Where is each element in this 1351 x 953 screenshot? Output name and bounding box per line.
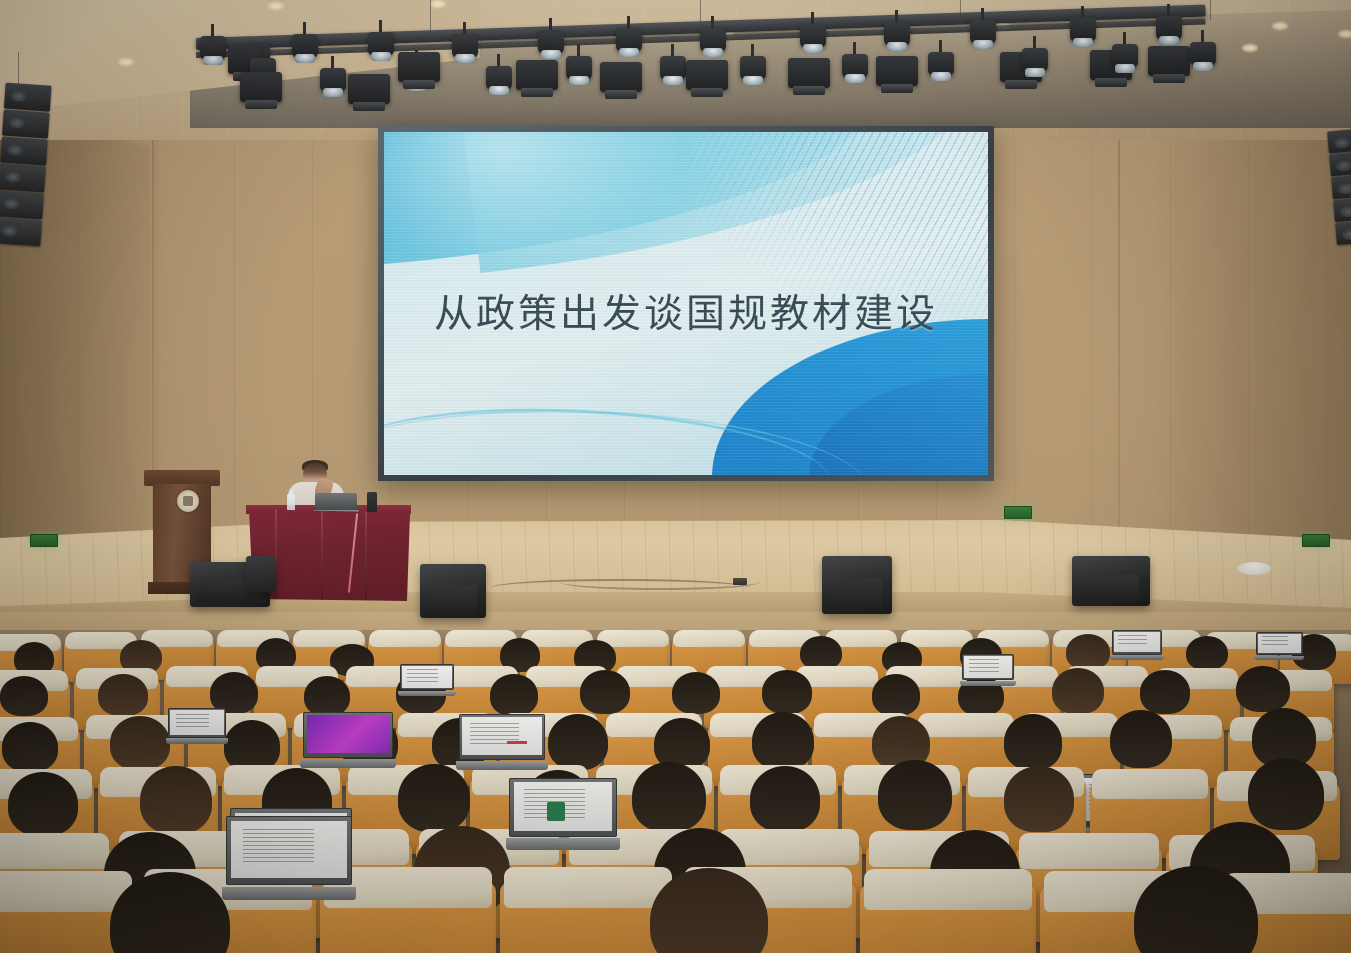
audience-laptop[interactable] <box>1254 632 1304 660</box>
stage-spotlight <box>452 34 478 68</box>
audience-member <box>98 674 148 716</box>
audience-member <box>1110 710 1172 768</box>
rig-wire <box>960 0 961 24</box>
stage-spotlight <box>1070 18 1096 52</box>
audience-member <box>398 764 470 832</box>
audience-member <box>548 714 608 770</box>
stage-spotlight <box>660 56 686 90</box>
audience-seat[interactable] <box>860 884 1036 953</box>
stage-spotlight <box>842 54 868 88</box>
stage-fresnel-light <box>876 56 918 86</box>
audience-member <box>672 672 720 714</box>
audience-member <box>762 670 812 714</box>
stage-monitor-speaker <box>420 564 486 618</box>
stage-spotlight <box>486 66 512 100</box>
audience-member <box>2 722 58 772</box>
projection-screen[interactable]: 从政策出发谈国规教材建设 <box>384 132 988 475</box>
audience-laptop[interactable] <box>456 714 548 770</box>
floor-cable-secondary <box>560 574 760 590</box>
projection-screen-frame: 从政策出发谈国规教材建设 <box>378 126 994 481</box>
stage-spotlight <box>320 68 346 102</box>
audience-laptop[interactable] <box>1110 630 1164 660</box>
audience-member <box>304 676 350 716</box>
stage-spotlight <box>800 24 826 58</box>
stage-spotlight <box>616 28 642 62</box>
stage-fresnel-light <box>686 60 728 90</box>
audience-laptop[interactable] <box>506 778 620 850</box>
rig-wire <box>430 0 431 36</box>
stage-spotlight <box>1156 16 1182 50</box>
audience-member <box>800 636 842 670</box>
stage-spotlight <box>1022 48 1048 82</box>
stage-spotlight <box>1190 42 1216 76</box>
exit-sign-left <box>30 534 58 547</box>
stage-fresnel-light <box>600 62 642 92</box>
stage-spotlight <box>200 36 226 70</box>
audience-member <box>140 766 212 834</box>
audience-member <box>1004 766 1074 832</box>
stage-spotlight <box>538 30 564 64</box>
exit-sign-center <box>1004 506 1032 519</box>
audience-member <box>632 762 706 832</box>
stage-spotlight <box>1112 44 1138 78</box>
stage-fresnel-light <box>1148 46 1190 76</box>
audience-member <box>110 716 170 770</box>
audience-member <box>1004 714 1062 770</box>
downlight <box>430 0 446 8</box>
audience-member <box>750 766 820 832</box>
audience-laptop[interactable] <box>960 654 1016 686</box>
stage-fresnel-light <box>516 60 558 90</box>
audience-member <box>878 760 952 830</box>
stage-fresnel-light <box>240 72 282 102</box>
audience-member <box>1052 668 1104 714</box>
rig-wire <box>700 0 701 30</box>
stage-spotlight <box>740 56 766 90</box>
audience-laptop[interactable] <box>398 664 456 696</box>
audience-laptop[interactable] <box>166 708 228 744</box>
stage-floor-object <box>1237 562 1271 575</box>
stage-monitor-speaker <box>1072 556 1150 606</box>
downlight <box>118 58 134 66</box>
stage-fresnel-light <box>348 74 390 104</box>
downlight <box>1338 30 1351 38</box>
stage-spotlight <box>928 52 954 86</box>
stage-spotlight <box>566 56 592 90</box>
audience-member <box>1248 758 1324 830</box>
slide-title-text: 从政策出发谈国规教材建设 <box>384 283 988 339</box>
downlight <box>1272 22 1288 30</box>
audience-laptop-purple[interactable] <box>300 712 396 768</box>
rig-wire <box>1210 0 1211 20</box>
institution-emblem-icon <box>177 490 199 512</box>
stage-fresnel-light <box>788 58 830 88</box>
audience-seating <box>0 630 1351 953</box>
audience-member <box>1066 634 1110 670</box>
stage-spotlight <box>700 28 726 62</box>
stage-spotlight <box>292 34 318 68</box>
stage-spotlight <box>368 32 394 66</box>
stage-monitor-wedge <box>246 556 276 592</box>
floor-connector-box <box>733 578 747 585</box>
audience-member <box>1236 666 1290 712</box>
stage-spotlight <box>884 22 910 56</box>
downlight <box>1242 44 1258 52</box>
stage-fresnel-light <box>398 52 440 82</box>
audience-member <box>580 670 630 714</box>
audience-member <box>1186 636 1228 670</box>
stage-spotlight <box>970 20 996 54</box>
audience-member <box>490 674 538 716</box>
audience-member <box>0 676 48 716</box>
audience-member <box>752 712 814 770</box>
audience-member <box>872 674 920 716</box>
downlight <box>268 2 284 10</box>
stage-monitor-speaker <box>822 556 892 614</box>
audience-member <box>1140 670 1190 714</box>
auditorium-photo: 从政策出发谈国规教材建设 <box>0 0 1351 953</box>
audience-member <box>8 772 78 836</box>
exit-sign-right <box>1302 534 1330 547</box>
audience-laptop[interactable] <box>222 816 356 900</box>
